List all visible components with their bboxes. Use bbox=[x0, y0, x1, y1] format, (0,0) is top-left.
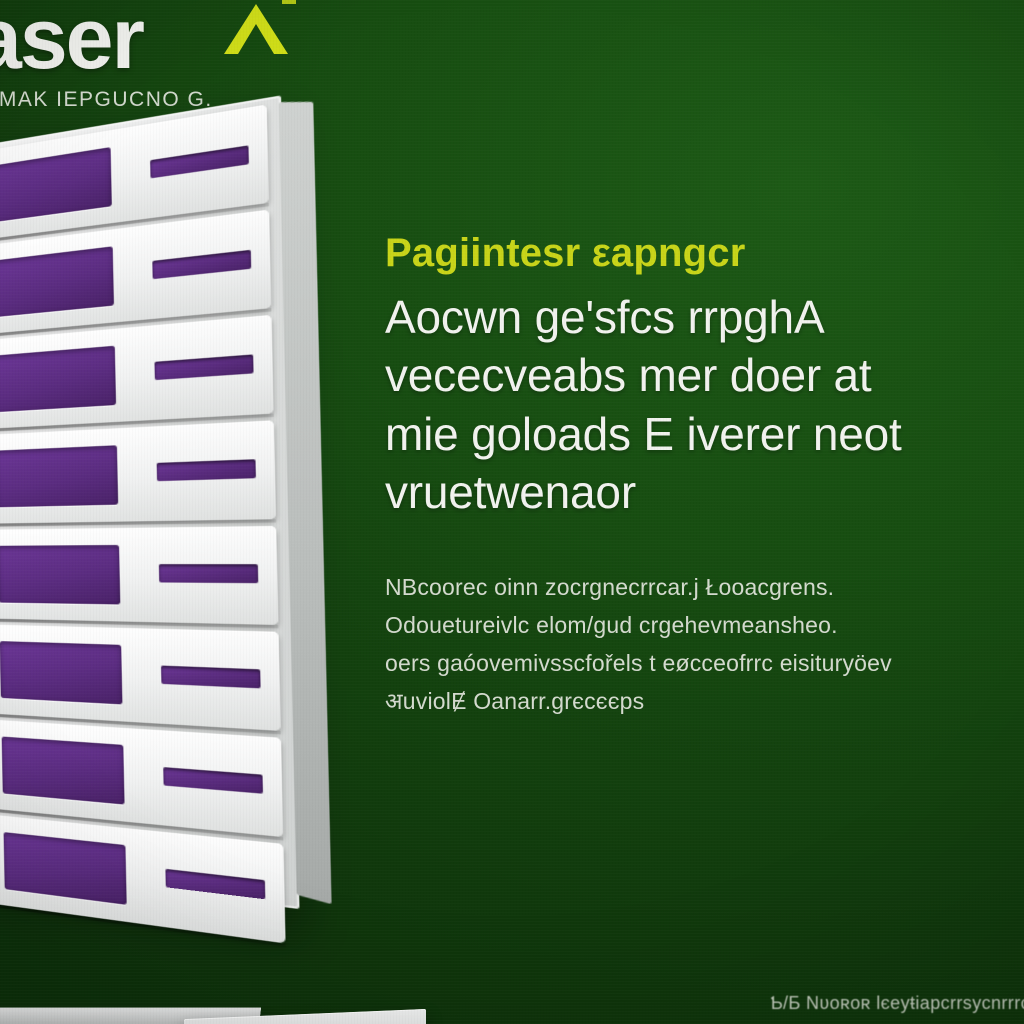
brand-logo[interactable]: aser ISMAK IEPGUCNO G. bbox=[0, 0, 334, 112]
rack-panel bbox=[0, 641, 122, 704]
headline-line: vececveabs mer doer at bbox=[385, 346, 1024, 404]
rack-panel bbox=[0, 445, 118, 507]
rack-seam bbox=[0, 902, 286, 946]
rack-slot bbox=[165, 869, 265, 899]
body-line: Odouetureivlc elom/gud crgehevmeansheo. bbox=[385, 606, 1024, 644]
rack-slot bbox=[152, 250, 251, 279]
copy-column: Pagiintesr εapngcr Aocwn ge'sfcs rrpghA … bbox=[385, 232, 1024, 720]
rack-panel bbox=[0, 545, 120, 604]
headline-line: Aocwn ge'sfcs rrpghA bbox=[385, 288, 1024, 346]
rack-panel bbox=[0, 147, 112, 222]
rack-panel bbox=[0, 246, 114, 317]
promo-banner: aser ISMAK IEPGUCNO G. bbox=[0, 0, 1024, 1024]
rack-slot bbox=[159, 564, 258, 583]
rack-bay bbox=[0, 526, 278, 625]
eyebrow-text: Pagiintesr εapngcr bbox=[385, 232, 1024, 274]
rack-slot bbox=[154, 354, 253, 380]
rack-bay bbox=[0, 420, 276, 524]
rack-slot bbox=[150, 145, 249, 178]
headline-line: vruetwenaor bbox=[385, 463, 1024, 521]
rack-panel bbox=[4, 832, 127, 905]
chevron-up-icon bbox=[220, 0, 296, 62]
rack-panel bbox=[0, 346, 116, 413]
rack-slot bbox=[157, 459, 256, 481]
rack-slot bbox=[163, 767, 263, 794]
body-line: अuviolɆ Oanarr.grєcєєps bbox=[385, 682, 1024, 720]
rack-bay bbox=[0, 624, 281, 731]
body-line: oers gaóovemivsscfořels t eøcceofrrc eis… bbox=[385, 644, 1024, 682]
footer-note: Ƅ/Ƃ Nʋoʀoʀ lєeyŧiapcrrsycnrrrc bbox=[771, 993, 1024, 1014]
headline-line: mie goloads E iverer neot bbox=[385, 405, 1024, 463]
rack-slot bbox=[161, 666, 261, 689]
headline: Aocwn ge'sfcs rrpghA vececveabs mer doer… bbox=[385, 288, 1024, 522]
rack-body bbox=[0, 95, 299, 909]
body-paragraph: NΒcoorec oinn zocrgnecrrcar.j Łooacgrens… bbox=[385, 568, 1024, 721]
rack-panel bbox=[2, 737, 125, 805]
body-line: NΒcoorec oinn zocrgnecrrcar.j Łooacgrens… bbox=[385, 568, 1024, 606]
